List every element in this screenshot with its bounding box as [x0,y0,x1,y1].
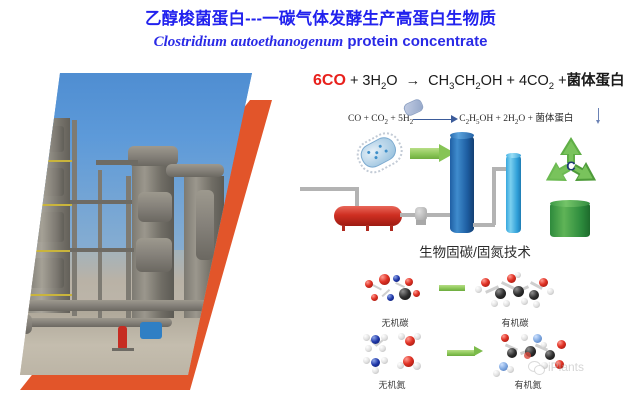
atom-hydrogen [541,342,547,348]
atom-hydrogen [398,333,405,340]
equation-pointer-icon [598,108,599,122]
photo-silo-2 [30,168,64,196]
photo-walkway-1 [70,200,132,204]
atom-carbon [399,288,411,300]
molecule-row-carbon: 无机碳 有机碳 [355,272,585,318]
riser-pipe [492,167,496,225]
atom-hydrogen [493,370,500,377]
atom-hydrogen [365,345,372,352]
plant-photo-image [0,0,300,401]
photo-reactor-mid [138,192,172,222]
photo-column-2 [98,170,102,318]
atom-carbon [545,350,555,360]
label-organic-nitrogen: 有机氮 [495,378,561,391]
atom-hydrogen [397,362,404,369]
atom-hydrogen [381,357,388,364]
photo-reactor-low [136,238,172,272]
recycle-carbon-label: C [566,159,575,174]
equation-arrow [413,115,459,123]
recycle-icon: C [538,135,604,197]
atom-oxygen [481,278,490,287]
atom-hydrogen [414,333,421,340]
wechat-icon [528,361,544,374]
watermark-dot [524,352,531,359]
atom-nitrogen [387,294,394,301]
species-suffix: protein concentrate [343,33,487,50]
atom-hydrogen [363,334,370,341]
label-inorganic-carbon: 无机碳 [363,316,427,329]
atom-oxygen [557,340,566,349]
photo-blue-pump [140,322,162,339]
atom-hydrogen [533,301,540,308]
photo-riser-pipe [196,190,214,260]
conversion-arrow-carbon [439,285,465,291]
plant-photo [0,0,300,401]
atom-carbon [507,348,517,358]
equation-primary-rest: + 3H2O → CH3CH2OH + 4CO2 +菌体蛋白 [350,73,625,89]
page-title-chinese: 乙醇梭菌蛋白---一碳气体发酵生产高蛋白生物质 [0,8,641,30]
photo-rail-1 [26,160,72,162]
photo-silo-3 [30,212,64,242]
title-block: 乙醇梭菌蛋白---一碳气体发酵生产高蛋白生物质 Clostridium auto… [0,8,641,53]
photo-column-3 [126,176,131,318]
photo-silo-4 [30,258,64,288]
atom-hydrogen [381,334,388,341]
atom-hydrogen [379,345,386,352]
photo-cart-base [112,348,134,351]
conversion-arrow-nitrogen-head [474,346,483,356]
photo-column-1 [72,120,77,316]
fermenter-tank [450,135,474,233]
photo-pipe-rack [20,300,250,311]
atom-hydrogen [491,300,498,307]
photo-silo-1 [30,126,64,152]
photo-duct-diagonal [166,164,224,177]
slide-canvas: 乙醇梭菌蛋白---一碳气体发酵生产高蛋白生物质 Clostridium auto… [0,0,641,401]
species-name: Clostridium autoethanogenum [154,34,344,50]
atom-hydrogen [507,366,514,373]
atom-oxygen [379,274,390,285]
gas-storage-tank [334,206,402,226]
atom-oxygen [405,278,413,286]
atom-hydrogen [363,357,370,364]
atom-hydrogen [413,362,421,370]
page-title-latin: Clostridium autoethanogenum protein conc… [0,31,641,53]
atom-nitrogen [533,334,542,343]
atom-hydrogen [515,272,521,278]
bacterium-icon [357,134,397,169]
atom-nitrogen [393,275,400,282]
photo-fire-extinguisher [118,326,127,350]
atom-carbon [529,290,539,300]
photo-rail-4 [24,294,76,296]
atom-nitrogen [371,335,380,344]
watermark: iPlants [528,360,584,374]
valve-to-fermenter-pipe [426,213,452,217]
secondary-equation: CO + CO2 + 5H2C2H5OH + 2H2O + 菌体蛋白 [348,110,573,126]
photo-walkway-2 [70,248,134,252]
atom-hydrogen [475,286,482,293]
atom-hydrogen [547,288,554,295]
label-organic-carbon: 有机碳 [483,316,547,329]
atom-carbon [513,286,524,297]
atom-oxygen [413,290,420,297]
atom-oxygen [501,334,509,342]
atom-carbon [495,288,506,299]
product-drum [550,203,590,237]
watermark-text: iPlants [548,360,584,374]
primary-equation: 6CO + 3H2O → CH3CH2OH + 4CO2 +菌体蛋白 [313,69,625,92]
inlet-pipe [300,187,358,191]
atom-nitrogen [371,358,380,367]
label-inorganic-nitrogen: 无机氮 [359,378,425,391]
photo-foreground-unit [6,314,32,334]
atom-oxygen [539,278,548,287]
separator-tank [506,155,521,233]
process-caption: 生物固碳/固氮技术 [310,241,640,261]
conversion-arrow-nitrogen [447,350,475,356]
atom-hydrogen [521,334,528,341]
atom-oxygen [365,280,373,288]
atom-hydrogen [503,300,510,307]
photo-walkway-3 [96,160,138,165]
atom-oxygen [371,294,378,301]
photo-rail-3 [26,250,72,252]
photo-rail-2 [26,204,72,206]
atom-hydrogen [521,298,528,305]
equation-reactant-highlight: 6CO [313,72,346,89]
atom-hydrogen [372,367,379,374]
